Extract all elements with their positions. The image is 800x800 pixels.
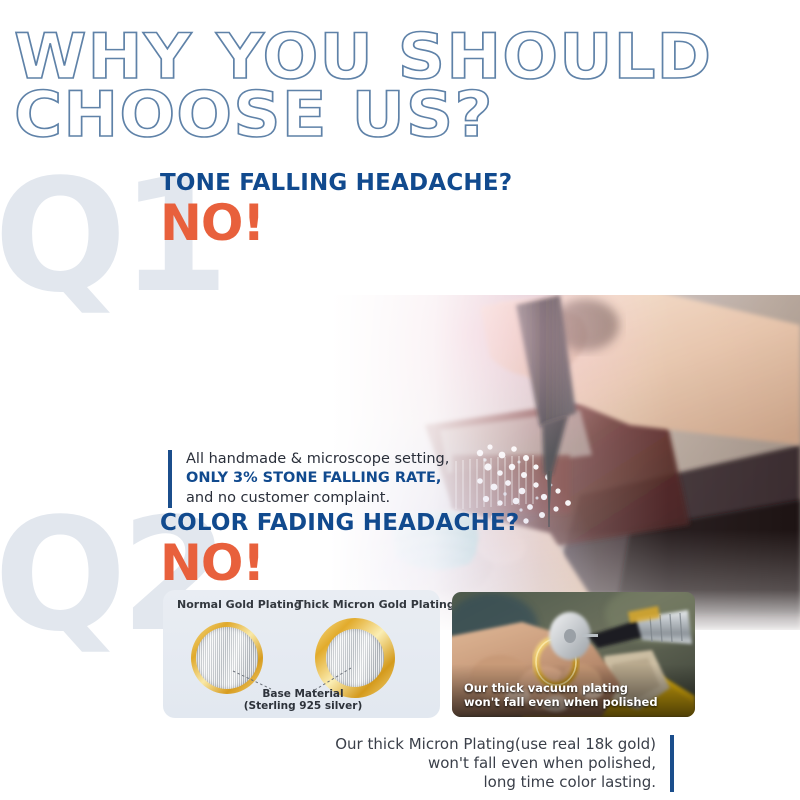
q1-answer: NO! <box>160 198 264 248</box>
q2-caption-line-1: Our thick vacuum plating <box>464 681 628 695</box>
plating-comparison-panel: Normal Gold Plating Thick Micron Gold Pl… <box>163 590 440 718</box>
base-material-silver-thick <box>326 629 384 687</box>
base-material-label: Base Material (Sterling 925 silver) <box>223 688 383 713</box>
closing-line-2: won't fall even when polished, <box>330 754 656 773</box>
plating-label-normal: Normal Gold Plating <box>177 598 302 611</box>
q1-body-line-2: ONLY 3% STONE FALLING RATE, <box>186 469 449 488</box>
plating-label-thick: Thick Micron Gold Plating <box>296 598 455 611</box>
base-material-line-2: (Sterling 925 silver) <box>244 700 363 712</box>
q2-photo-caption: Our thick vacuum plating won't fall even… <box>464 681 658 709</box>
page-title-line-2: CHOOSE US? <box>14 86 800 144</box>
page-title: WHY YOU SHOULD CHOOSE US? <box>14 28 784 143</box>
base-material-silver-normal <box>196 627 258 689</box>
base-material-line-1: Base Material <box>262 688 343 700</box>
closing-line-3: long time color lasting. <box>330 773 656 792</box>
q1-body-line-1: All handmade & microscope setting, <box>186 450 449 469</box>
thick-micron-gold-plating-diagram <box>315 618 395 698</box>
q1-heading: TONE FALLING HEADACHE? <box>160 170 512 196</box>
q2-caption-line-2: won't fall even when polished <box>464 695 658 709</box>
closing-line-1: Our thick Micron Plating(use real 18k go… <box>330 735 656 754</box>
question-section-q1: Q1 TONE FALLING HEADACHE? NO! All handma… <box>0 150 800 490</box>
q2-heading: COLOR FADING HEADACHE? <box>160 510 519 536</box>
q2-photo: Our thick vacuum plating won't fall even… <box>452 592 695 717</box>
normal-gold-plating-diagram <box>191 622 263 694</box>
closing-statement: Our thick Micron Plating(use real 18k go… <box>330 735 674 792</box>
q2-answer: NO! <box>160 538 264 588</box>
